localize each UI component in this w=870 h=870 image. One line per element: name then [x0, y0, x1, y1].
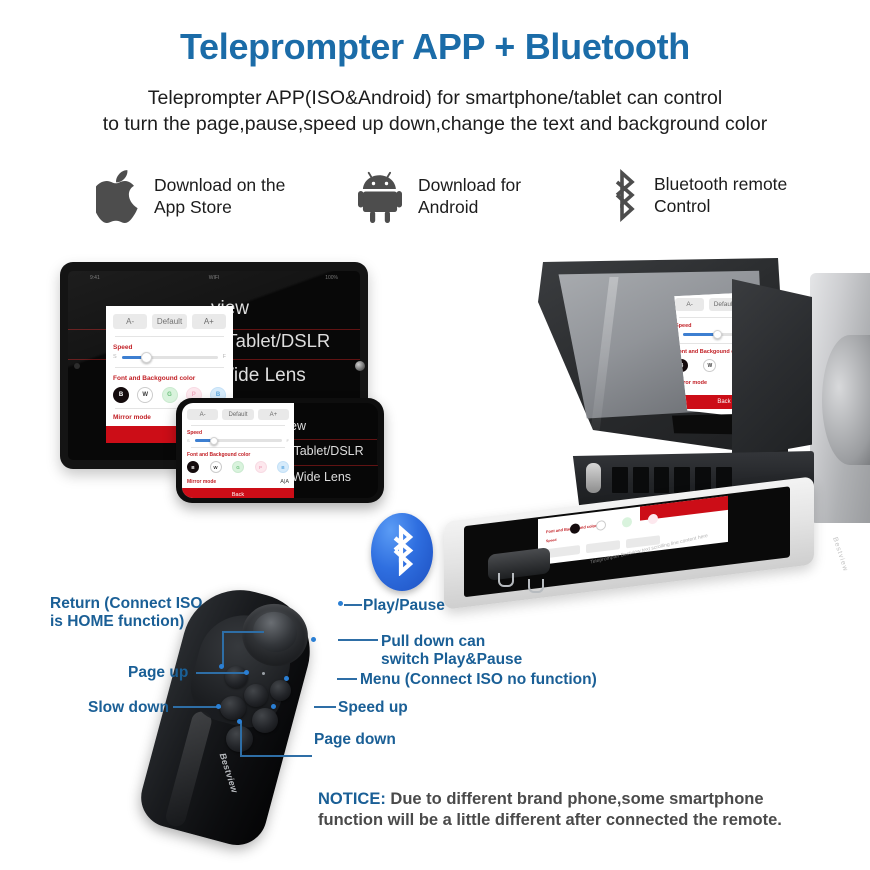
- speed-slider[interactable]: S F: [106, 353, 233, 367]
- leader-play-h: [344, 604, 362, 606]
- badge-bluetooth[interactable]: Bluetooth remote Control: [606, 168, 866, 222]
- badge-bluetooth-line1: Bluetooth remote: [654, 174, 787, 194]
- rig-clamp-leg-left: [498, 573, 514, 587]
- callout-page-up: Page up: [128, 664, 188, 682]
- bluetooth-badge-pill: [371, 513, 433, 591]
- callout-pull-down-line2: switch Play&Pause: [381, 651, 522, 668]
- callout-return-line2: is HOME function): [50, 613, 184, 630]
- speed-slider-knob[interactable]: [713, 330, 722, 339]
- leader-speedup-dot: [271, 704, 276, 709]
- phone-text-line3: Wide Lens: [292, 471, 351, 484]
- speed-slider[interactable]: S F: [182, 437, 294, 447]
- mirror-mode-row[interactable]: Mirror mode A|A: [182, 476, 294, 488]
- bluetooth-icon: [606, 168, 642, 222]
- leader-pagedown-v: [240, 722, 242, 756]
- subtitle-line-2: to turn the page,pause,speed up down,cha…: [0, 112, 870, 138]
- rig-flat-speed-label: Speed: [546, 538, 557, 543]
- color-swatch-black[interactable]: B: [113, 387, 129, 403]
- badge-android-line1: Download for: [418, 175, 521, 195]
- speed-slider-track[interactable]: [195, 439, 282, 442]
- back-button[interactable]: Back: [182, 488, 294, 498]
- rig-flat-swatch-green[interactable]: [622, 517, 632, 528]
- store-badge-row: Download on the App Store Download for: [0, 168, 870, 224]
- font-size-button-row: A- Default A+: [182, 403, 294, 425]
- leader-return-dot: [219, 664, 224, 669]
- notice-block: NOTICE: Due to different brand phone,som…: [318, 789, 858, 832]
- leader-menu-dot: [284, 676, 289, 681]
- badge-android-line2: Android: [418, 197, 478, 217]
- phone-screen: ew /Tablet/DSLR Wide Lens A- Default A+ …: [182, 403, 378, 498]
- notice-line2: function will be a little different afte…: [318, 811, 782, 829]
- apple-icon: [96, 168, 142, 224]
- app-settings-panel-phone: A- Default A+ Speed S F: [182, 403, 294, 498]
- rig-brand-label: Bestview: [831, 536, 849, 572]
- rig-flat-swatch-pink[interactable]: [648, 513, 658, 524]
- leader-pagedown-h: [240, 755, 312, 757]
- mirror-mode-label: Mirror mode: [113, 414, 151, 421]
- color-swatch-white[interactable]: W: [210, 461, 222, 473]
- leader-slowdown-h: [173, 706, 221, 708]
- badge-bluetooth-text: Bluetooth remote Control: [654, 173, 787, 218]
- leader-return-h: [222, 631, 264, 633]
- remote-button-menu[interactable]: [270, 680, 291, 701]
- rig-flat-swatch-white[interactable]: [596, 520, 606, 531]
- callout-return: Return (Connect ISO is HOME function): [50, 595, 202, 632]
- callout-speed-up: Speed up: [338, 699, 408, 717]
- callout-return-line1: Return (Connect ISO: [50, 595, 202, 612]
- speed-slider-track[interactable]: [122, 356, 218, 359]
- page-title: Teleprompter APP + Bluetooth: [0, 29, 870, 65]
- color-label: Font and Backgound color: [182, 448, 294, 459]
- font-larger-button[interactable]: A+: [258, 409, 289, 420]
- badge-app-store[interactable]: Download on the App Store: [96, 168, 358, 224]
- color-swatch-green[interactable]: G: [162, 387, 178, 403]
- badge-app-store-text: Download on the App Store: [154, 174, 285, 219]
- font-larger-button[interactable]: A+: [192, 314, 226, 329]
- callout-pull-down-line1: Pull down can: [381, 633, 485, 650]
- leader-pagedown-dot: [237, 719, 242, 724]
- rig-flat-font-default[interactable]: [586, 540, 620, 553]
- speed-max-label: F: [223, 354, 226, 360]
- color-swatch-white[interactable]: W: [703, 359, 716, 372]
- notice-keyword: NOTICE:: [318, 790, 386, 808]
- badge-android-text: Download for Android: [418, 174, 521, 219]
- font-smaller-button[interactable]: A-: [113, 314, 147, 329]
- badge-app-store-line1: Download on the: [154, 175, 285, 195]
- rig-clamp-leg-right: [528, 579, 544, 593]
- font-smaller-button[interactable]: A-: [187, 409, 218, 420]
- color-swatch-pink[interactable]: P: [255, 461, 267, 473]
- phone-notch: [377, 435, 384, 467]
- speed-label: Speed: [182, 426, 294, 437]
- speed-max-label: F: [287, 438, 289, 443]
- font-default-button[interactable]: Default: [152, 314, 186, 329]
- remote-led-indicator: [262, 672, 265, 675]
- notice-line1: Due to different brand phone,some smartp…: [386, 790, 764, 808]
- rig-adjust-knob[interactable]: [586, 463, 601, 493]
- speed-slider-knob[interactable]: [210, 437, 218, 445]
- leader-speedup-h: [314, 706, 336, 708]
- color-swatch-blue[interactable]: B: [277, 461, 289, 473]
- leader-pull-dot: [311, 637, 316, 642]
- speed-slider-knob[interactable]: [141, 352, 152, 363]
- font-default-button[interactable]: Default: [222, 409, 253, 420]
- mirror-mode-label: Mirror mode: [187, 479, 216, 485]
- color-swatch-white[interactable]: W: [137, 387, 153, 403]
- dslr-camera-lens-icon: [822, 335, 870, 465]
- remote-button-center[interactable]: [244, 684, 268, 707]
- speed-min-label: S: [113, 354, 117, 360]
- rig-flat-swatch-black[interactable]: [570, 523, 580, 534]
- phone-text-line2: /Tablet/DSLR: [290, 445, 364, 458]
- bluetooth-badge: [371, 513, 433, 591]
- phone-device: ew /Tablet/DSLR Wide Lens A- Default A+ …: [176, 398, 384, 503]
- leader-menu-h: [337, 678, 357, 680]
- subtitle-line-1: Teleprompter APP(ISO&Android) for smartp…: [0, 86, 870, 112]
- callout-slow-down: Slow down: [88, 699, 169, 717]
- android-icon: [358, 168, 406, 224]
- rig-side-panel: [732, 279, 812, 459]
- speed-slider-fill: [683, 333, 716, 336]
- mirror-mode-value: A|A: [280, 479, 289, 485]
- badge-app-store-line2: App Store: [154, 197, 232, 217]
- tablet-home-indicator: [74, 363, 80, 369]
- leader-pull-h: [338, 639, 378, 641]
- leader-return-v: [222, 631, 224, 667]
- tablet-camera-lens-icon: [355, 361, 365, 371]
- callout-pull-down: Pull down can switch Play&Pause: [381, 633, 522, 670]
- bluetooth-icon: [383, 524, 421, 581]
- teleprompter-rig-photo: A- Default A+ Speed S F Font and Backgou…: [440, 255, 870, 600]
- leader-play-dot: [338, 601, 343, 606]
- header-section: Teleprompter APP + Bluetooth Teleprompte…: [0, 0, 870, 137]
- callout-page-down: Page down: [314, 731, 396, 749]
- speed-label: Speed: [106, 337, 233, 353]
- page-subtitle: Teleprompter APP(ISO&Android) for smartp…: [0, 86, 870, 137]
- color-swatch-row: B W G P B: [182, 459, 294, 476]
- speed-min-label: S: [187, 438, 190, 443]
- color-swatch-black[interactable]: B: [187, 461, 199, 473]
- font-smaller-button[interactable]: A-: [675, 298, 704, 311]
- color-swatch-green[interactable]: G: [232, 461, 244, 473]
- rig-flat-font-smaller[interactable]: [546, 545, 580, 558]
- remote-button-speed-up[interactable]: [252, 708, 278, 733]
- callout-play-pause: Play/Pause: [363, 597, 445, 615]
- leader-pageup-h: [196, 672, 248, 674]
- color-label: Font and Backgound color: [106, 368, 233, 384]
- leader-pageup-dot: [244, 670, 249, 675]
- font-size-button-row: A- Default A+: [106, 306, 233, 336]
- badge-bluetooth-line2: Control: [654, 196, 710, 216]
- badge-android[interactable]: Download for Android: [358, 168, 606, 224]
- remote-button-page-up[interactable]: [220, 696, 246, 720]
- callout-menu: Menu (Connect ISO no function): [360, 671, 597, 689]
- device-mockup-group: 9:41 WIFI 100% view e/Tablet/DSLR Wide L…: [60, 262, 400, 507]
- leader-slowdown-dot: [216, 704, 221, 709]
